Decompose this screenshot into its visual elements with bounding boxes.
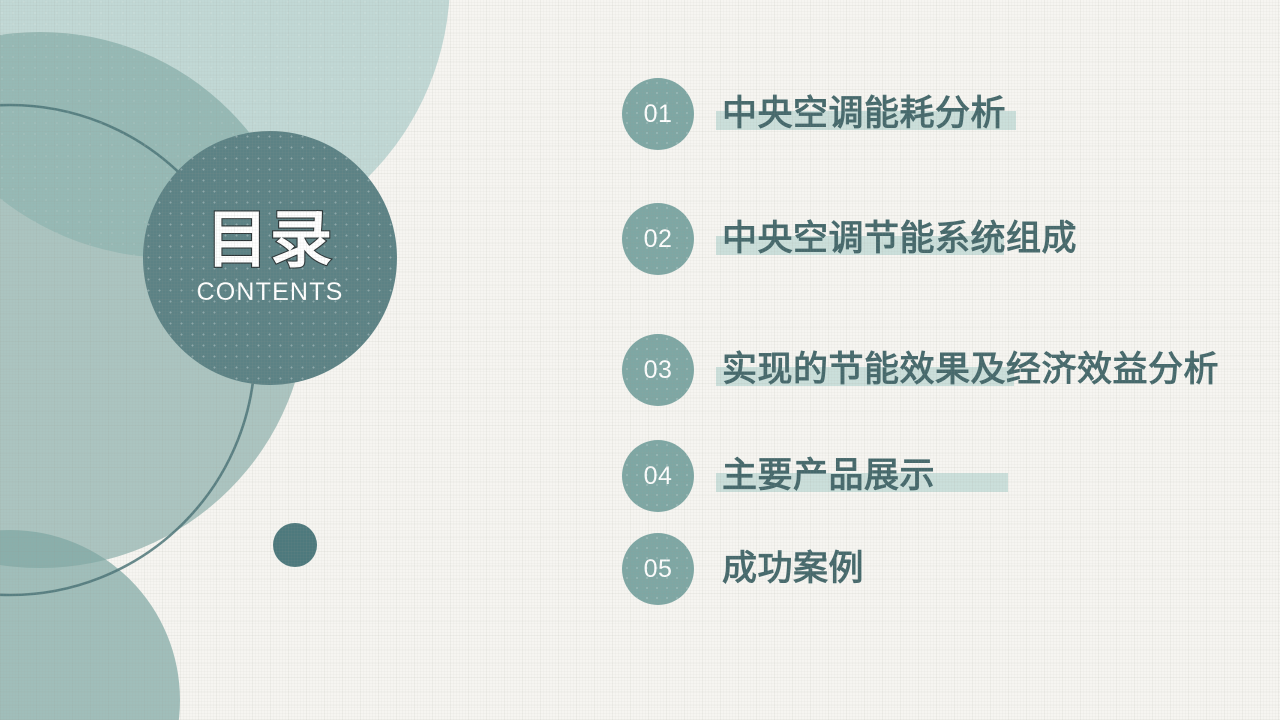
contents-circle: 目录 CONTENTS	[143, 131, 397, 385]
heading-chinese: 目录	[206, 210, 334, 272]
contents-item-number: 03	[644, 356, 673, 385]
contents-item-number: 05	[644, 555, 673, 584]
contents-item-title[interactable]: 中央空调能耗分析	[722, 93, 1006, 134]
contents-item-title[interactable]: 实现的节能效果及经济效益分析	[722, 349, 1219, 390]
contents-item-title[interactable]: 中央空调节能系统组成	[722, 218, 1077, 259]
contents-item[interactable]: 01中央空调能耗分析	[622, 78, 1006, 150]
contents-item-title-wrap: 主要产品展示	[722, 455, 935, 496]
contents-item-title-wrap: 成功案例	[722, 548, 864, 589]
contents-item-number-badge[interactable]: 01	[622, 78, 694, 150]
contents-item-number: 04	[644, 462, 673, 491]
contents-item-title[interactable]: 主要产品展示	[722, 455, 935, 496]
contents-item[interactable]: 02中央空调节能系统组成	[622, 203, 1077, 275]
heading-english: CONTENTS	[196, 278, 343, 307]
contents-item-title-wrap: 实现的节能效果及经济效益分析	[722, 349, 1219, 390]
contents-item-number-badge[interactable]: 02	[622, 203, 694, 275]
contents-item[interactable]: 04主要产品展示	[622, 440, 935, 512]
contents-item-title[interactable]: 成功案例	[722, 548, 864, 589]
contents-item-number: 02	[644, 225, 673, 254]
contents-item-number: 01	[644, 100, 673, 129]
slide-canvas: 目录 CONTENTS 01中央空调能耗分析02中央空调节能系统组成03实现的节…	[0, 0, 1280, 720]
contents-item-title-wrap: 中央空调节能系统组成	[722, 218, 1077, 259]
contents-item-number-badge[interactable]: 05	[622, 533, 694, 605]
contents-item[interactable]: 05成功案例	[622, 533, 864, 605]
contents-item-number-badge[interactable]: 04	[622, 440, 694, 512]
contents-item[interactable]: 03实现的节能效果及经济效益分析	[622, 334, 1219, 406]
decor-accent-dot	[273, 523, 317, 567]
decor-circle-lower-left	[0, 530, 180, 720]
contents-item-title-wrap: 中央空调能耗分析	[722, 93, 1006, 134]
contents-item-number-badge[interactable]: 03	[622, 334, 694, 406]
